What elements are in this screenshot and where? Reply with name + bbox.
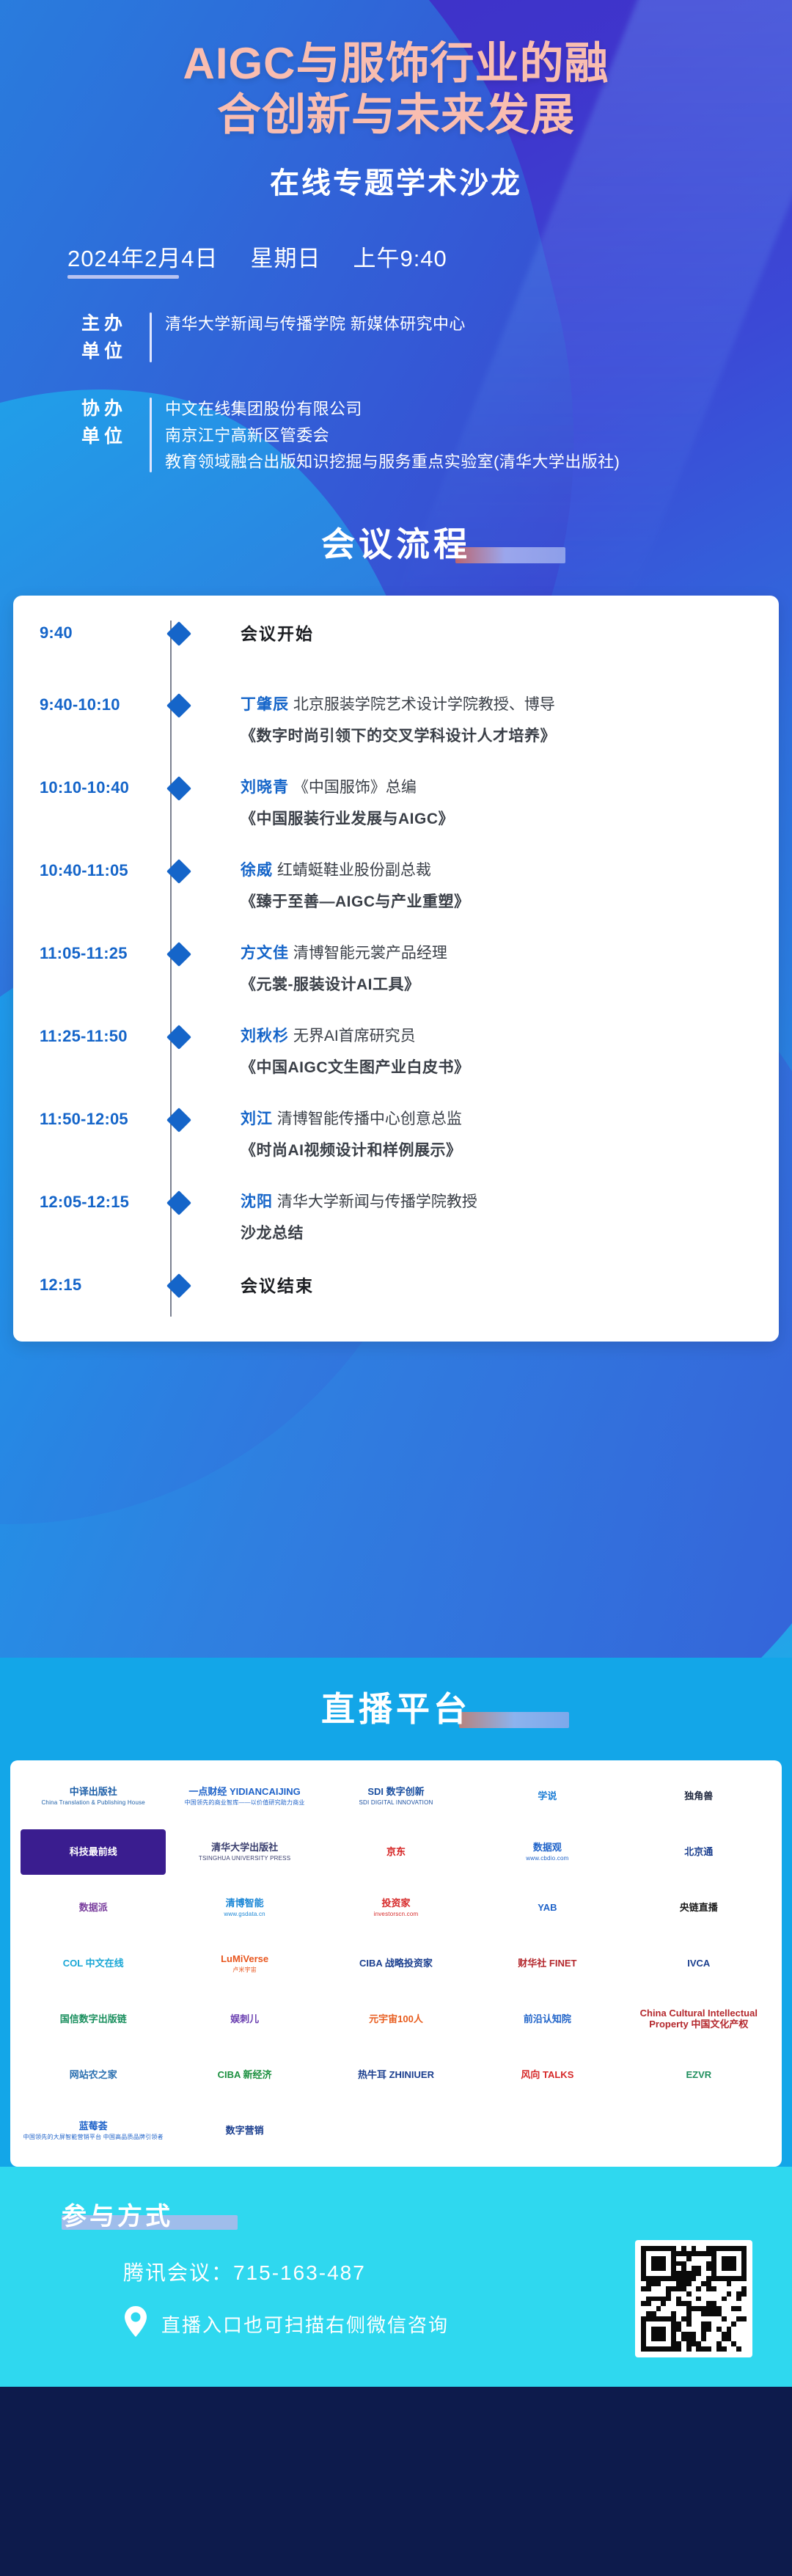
partner-logo: 数字营销 [172, 2108, 317, 2154]
agenda-card: 9:40会议开始9:40-10:10丁肇辰 北京服装学院艺术设计学院教授、博导《… [13, 596, 779, 1342]
poster-hero: AIGC与服饰行业的融 合创新与未来发展 在线专题学术沙龙 2024年2月4日 … [0, 0, 792, 1658]
host-label-line2: 单位 [70, 337, 138, 365]
agenda-speaker-affiliation: 清华大学新闻与传播学院教授 [273, 1193, 477, 1210]
partner-logo-name: 京东 [386, 1847, 406, 1858]
event-time: 上午9:40 [353, 240, 447, 273]
agenda-row-time: 12:05-12:15 [40, 1190, 163, 1212]
partner-logo-name: COL 中文在线 [63, 1958, 124, 1969]
agenda-row-body: 刘晓青 《中国服饰》总编《中国服装行业发展与AIGC》 [188, 775, 758, 830]
partner-logo: 国信数字出版链 [21, 1997, 166, 2042]
partner-logo: EZVR [626, 2052, 771, 2098]
event-date: 2024年2月4日 [67, 240, 218, 277]
agenda-row: 10:40-11:05徐威 红蜻蜓鞋业股份副总裁《臻于至善—AIGC与产业重塑》 [13, 858, 779, 913]
agenda-speaker-name: 方文佳 [241, 945, 289, 962]
agenda-row-time: 10:10-10:40 [40, 775, 163, 797]
partner-logo-subtitle: www.gsdata.cn [224, 1911, 265, 1917]
partner-logo: 京东 [323, 1829, 469, 1875]
partner-logo-name: CIBA 新经济 [218, 2070, 272, 2081]
agenda-topic: 《数字时尚引领下的交叉学科设计人才培养》 [241, 725, 758, 748]
partner-logo: 数据派 [21, 1885, 166, 1931]
join-section: 参与方式 腾讯会议：715-163-487 直播入口也可扫描右侧微信咨询 [0, 2167, 792, 2387]
partner-logo: COL 中文在线 [21, 1941, 166, 1986]
event-datetime: 2024年2月4日 星期日 上午9:40 [25, 240, 767, 277]
coorganizer-value-2: 教育领域融合出版知识挖掘与服务重点实验室(清华大学出版社) [165, 449, 620, 475]
partner-logo: IVCA [626, 1941, 771, 1986]
agenda-timeline: 9:40会议开始9:40-10:10丁肇辰 北京服装学院艺术设计学院教授、博导《… [13, 621, 779, 1317]
partner-logo-name: 娱刺儿 [230, 2014, 259, 2025]
agenda-speaker-name: 沈阳 [241, 1193, 273, 1210]
agenda-row-body: 会议开始 [188, 621, 758, 647]
partner-logo: 一点财经 YIDIANCAIJING中国领先的商业智库——以价值研究助力商业 [172, 1774, 317, 1819]
partner-logo-name: YAB [538, 1903, 557, 1914]
partner-logo-name: 前沿认知院 [524, 2014, 571, 2025]
agenda-speaker-affiliation: 无界AI首席研究员 [289, 1028, 416, 1044]
partner-logo-subtitle: 中国领先的大屏智能营销平台 中国高品质品牌引领者 [23, 2134, 164, 2140]
agenda-topic: 《臻于至善—AIGC与产业重塑》 [241, 890, 758, 914]
live-heading-text: 直播平台 [321, 1690, 471, 1728]
agenda-speaker-line: 会议结束 [241, 1273, 758, 1299]
partner-logo-name: CIBA 战略投资家 [359, 1958, 433, 1969]
agenda-speaker-line: 刘秋杉 无界AI首席研究员 [241, 1025, 758, 1048]
agenda-session-label: 会议开始 [241, 624, 314, 643]
agenda-topic: 《中国服装行业发展与AIGC》 [241, 808, 758, 831]
partner-logo: 中译出版社China Translation & Publishing Hous… [21, 1774, 166, 1819]
partner-logo-name: 清博智能 [224, 1898, 265, 1909]
agenda-row: 11:50-12:05刘江 清博智能传播中心创意总监《时尚AI视频设计和样例展示… [13, 1107, 779, 1162]
partner-logo: 前沿认知院 [474, 1997, 620, 2042]
host-organization-block: 主办 单位 清华大学新闻与传播学院 新媒体研究中心 [25, 310, 767, 365]
partner-logo-name: EZVR [686, 2070, 711, 2081]
join-heading-text: 参与方式 [62, 2203, 173, 2231]
agenda-speaker-line: 徐威 红蜻蜓鞋业股份副总裁 [241, 859, 758, 882]
media-partner-logo-grid: 中译出版社China Translation & Publishing Hous… [10, 1760, 782, 2167]
partner-logo-name: SDI 数字创新 [359, 1787, 433, 1798]
partner-logo-name: 独角兽 [684, 1791, 713, 1802]
partner-logo: 热牛耳 ZHINIUER [323, 2052, 469, 2098]
partner-logo-subtitle: 中国领先的商业智库——以价值研究助力商业 [185, 1799, 305, 1806]
agenda-session-label: 会议结束 [241, 1276, 314, 1295]
coorganizer-value-0: 中文在线集团股份有限公司 [165, 396, 620, 422]
agenda-row: 9:40-10:10丁肇辰 北京服装学院艺术设计学院教授、博导《数字时尚引领下的… [13, 692, 779, 747]
agenda-topic: 《中国AIGC文生图产业白皮书》 [241, 1056, 758, 1080]
partner-logo-name: 数据观 [526, 1843, 568, 1854]
partner-logo-name: 热牛耳 ZHINIUER [358, 2070, 434, 2081]
event-weekday: 星期日 [250, 240, 320, 273]
agenda-row-time: 12:15 [40, 1273, 163, 1295]
partner-logo-name: 财华社 FINET [518, 1958, 576, 1969]
title-line-2: 合创新与未来发展 [25, 89, 767, 141]
agenda-speaker-name: 刘晓青 [241, 779, 289, 796]
agenda-row-body: 沈阳 清华大学新闻与传播学院教授沙龙总结 [188, 1190, 758, 1245]
agenda-speaker-affiliation: 《中国服饰》总编 [289, 779, 417, 796]
partner-logo: 清华大学出版社TSINGHUA UNIVERSITY PRESS [172, 1829, 317, 1875]
partner-logo: YAB [474, 1885, 620, 1931]
partner-logo: CIBA 新经济 [172, 2052, 317, 2098]
partner-logo: LuMiVerse卢米宇宙 [172, 1941, 317, 1986]
partner-logo-subtitle: 卢米宇宙 [221, 1966, 268, 1973]
coorganizer-label: 协办 单位 [70, 395, 138, 475]
agenda-row-time: 9:40 [40, 621, 163, 643]
partner-logo: China Cultural Intellectual Property 中国文… [626, 1997, 771, 2042]
agenda-speaker-line: 会议开始 [241, 621, 758, 647]
host-value-0: 清华大学新闻与传播学院 新媒体研究中心 [165, 311, 466, 337]
join-heading: 参与方式 [0, 2196, 173, 2232]
partner-logo: 元宇宙100人 [323, 1997, 469, 2042]
poster-subtitle: 在线专题学术沙龙 [25, 159, 767, 202]
agenda-speaker-line: 沈阳 清华大学新闻与传播学院教授 [241, 1190, 758, 1214]
agenda-row: 12:05-12:15沈阳 清华大学新闻与传播学院教授沙龙总结 [13, 1190, 779, 1245]
coorganizer-values: 中文在线集团股份有限公司 南京江宁高新区管委会 教育领域融合出版知识挖掘与服务重… [165, 395, 620, 475]
partner-logo: 数据观www.cbdio.com [474, 1829, 620, 1875]
agenda-speaker-line: 方文佳 清博智能元裳产品经理 [241, 942, 758, 965]
live-heading: 直播平台 [0, 1683, 792, 1738]
partner-logo: 学说 [474, 1774, 620, 1819]
host-label-line1: 主办 [70, 310, 138, 337]
partner-logo-subtitle: TSINGHUA UNIVERSITY PRESS [199, 1855, 290, 1862]
agenda-speaker-name: 刘江 [241, 1110, 273, 1127]
agenda-speaker-line: 刘江 清博智能传播中心创意总监 [241, 1108, 758, 1131]
coorganizer-value-1: 南京江宁高新区管委会 [165, 422, 620, 449]
partner-logo: 娱刺儿 [172, 1997, 317, 2042]
location-pin-icon [123, 2305, 148, 2343]
host-label: 主办 单位 [70, 310, 138, 365]
agenda-row-body: 刘秋杉 无界AI首席研究员《中国AIGC文生图产业白皮书》 [188, 1024, 758, 1079]
partner-logo-name: 国信数字出版链 [60, 2014, 127, 2025]
partner-logo-name: 数字营销 [226, 2126, 264, 2137]
agenda-row-time: 10:40-11:05 [40, 858, 163, 880]
wechat-qr-code[interactable] [635, 2240, 752, 2357]
live-entry-text: 直播入口也可扫描右侧微信咨询 [161, 2310, 449, 2338]
title-line-1: AIGC与服饰行业的融 [25, 38, 767, 89]
coorganizer-divider [150, 398, 152, 472]
partner-logo-name: 科技最前线 [70, 1847, 117, 1858]
partner-logo: 北京通 [626, 1829, 771, 1875]
agenda-row: 11:05-11:25方文佳 清博智能元裳产品经理《元裳-服装设计AI工具》 [13, 941, 779, 996]
partner-logo-name: 数据派 [79, 1903, 108, 1914]
partner-logo-name: 风向 TALKS [521, 2070, 573, 2081]
partner-logo: 网站农之家 [21, 2052, 166, 2098]
partner-logo-subtitle: www.cbdio.com [526, 1855, 568, 1862]
agenda-heading-text: 会议流程 [321, 525, 471, 563]
partner-logo-name: IVCA [687, 1958, 710, 1969]
agenda-row-body: 徐威 红蜻蜓鞋业股份副总裁《臻于至善—AIGC与产业重塑》 [188, 858, 758, 913]
partner-logo: CIBA 战略投资家 [323, 1941, 469, 1986]
agenda-heading: 会议流程 [25, 518, 767, 571]
agenda-speaker-affiliation: 北京服装学院艺术设计学院教授、博导 [289, 696, 555, 713]
partner-logo-name: LuMiVerse [221, 1954, 268, 1965]
agenda-row-time: 11:50-12:05 [40, 1107, 163, 1129]
partner-logo: 财华社 FINET [474, 1941, 620, 1986]
partner-logo-name: 蓝莓荟 [23, 2121, 164, 2132]
partner-logo: 独角兽 [626, 1774, 771, 1819]
partner-logo-name: 元宇宙100人 [369, 2014, 423, 2025]
partner-logo-subtitle: China Translation & Publishing House [41, 1799, 145, 1806]
agenda-speaker-name: 刘秋杉 [241, 1028, 289, 1044]
poster-title: AIGC与服饰行业的融 合创新与未来发展 在线专题学术沙龙 [25, 0, 767, 202]
partner-logo-name: 投资家 [374, 1898, 419, 1909]
partner-logo: 投资家investorscn.com [323, 1885, 469, 1931]
agenda-topic: 《时尚AI视频设计和样例展示》 [241, 1139, 758, 1163]
agenda-row: 10:10-10:40刘晓青 《中国服饰》总编《中国服装行业发展与AIGC》 [13, 775, 779, 830]
partner-logo-name: 中译出版社 [41, 1787, 145, 1798]
agenda-speaker-affiliation: 清博智能元裳产品经理 [289, 945, 447, 962]
agenda-speaker-line: 刘晓青 《中国服饰》总编 [241, 776, 758, 799]
partner-logo-name: 学说 [538, 1791, 557, 1802]
agenda-row-body: 丁肇辰 北京服装学院艺术设计学院教授、博导《数字时尚引领下的交叉学科设计人才培养… [188, 692, 758, 747]
agenda-row-time: 9:40-10:10 [40, 692, 163, 714]
coorganizer-block: 协办 单位 中文在线集团股份有限公司 南京江宁高新区管委会 教育领域融合出版知识… [25, 395, 767, 475]
agenda-row: 11:25-11:50刘秋杉 无界AI首席研究员《中国AIGC文生图产业白皮书》 [13, 1024, 779, 1079]
agenda-speaker-line: 丁肇辰 北京服装学院艺术设计学院教授、博导 [241, 693, 758, 717]
agenda-row-body: 刘江 清博智能传播中心创意总监《时尚AI视频设计和样例展示》 [188, 1107, 758, 1162]
partner-logo-subtitle: investorscn.com [374, 1911, 419, 1917]
partner-logo-subtitle: SDI DIGITAL INNOVATION [359, 1799, 433, 1806]
partner-logo: 央链直播 [626, 1885, 771, 1931]
partner-logo: 科技最前线 [21, 1829, 166, 1875]
coorganizer-label-line2: 单位 [70, 422, 138, 450]
partner-logo: SDI 数字创新SDI DIGITAL INNOVATION [323, 1774, 469, 1819]
partner-logo-name: 网站农之家 [70, 2070, 117, 2081]
agenda-row-time: 11:25-11:50 [40, 1024, 163, 1046]
agenda-row-time: 11:05-11:25 [40, 941, 163, 963]
host-divider [150, 312, 152, 362]
partner-logo: 清博智能www.gsdata.cn [172, 1885, 317, 1931]
agenda-row: 9:40会议开始 [13, 621, 779, 665]
agenda-speaker-affiliation: 清博智能传播中心创意总监 [273, 1110, 462, 1127]
agenda-row-body: 方文佳 清博智能元裳产品经理《元裳-服装设计AI工具》 [188, 941, 758, 996]
partner-logo-name: 央链直播 [680, 1903, 718, 1914]
agenda-row: 12:15会议结束 [13, 1273, 779, 1317]
agenda-topic: 《元裳-服装设计AI工具》 [241, 973, 758, 997]
coorganizer-label-line1: 协办 [70, 395, 138, 422]
agenda-speaker-affiliation: 红蜻蜓鞋业股份副总裁 [273, 862, 431, 879]
live-platform-section: 直播平台 中译出版社China Translation & Publishing… [0, 1658, 792, 2167]
host-values: 清华大学新闻与传播学院 新媒体研究中心 [165, 310, 466, 365]
partner-logo-name: China Cultural Intellectual Property 中国文… [628, 2008, 770, 2030]
agenda-topic: 沙龙总结 [241, 1222, 758, 1245]
agenda-row-body: 会议结束 [188, 1273, 758, 1299]
partner-logo-name: 清华大学出版社 [199, 1843, 290, 1854]
agenda-speaker-name: 徐威 [241, 862, 273, 879]
partner-logo: 蓝莓荟中国领先的大屏智能营销平台 中国高品质品牌引领者 [21, 2108, 166, 2154]
partner-logo-name: 北京通 [684, 1847, 713, 1858]
agenda-speaker-name: 丁肇辰 [241, 696, 289, 713]
partner-logo-name: 一点财经 YIDIANCAIJING [185, 1787, 305, 1798]
partner-logo: 风向 TALKS [474, 2052, 620, 2098]
